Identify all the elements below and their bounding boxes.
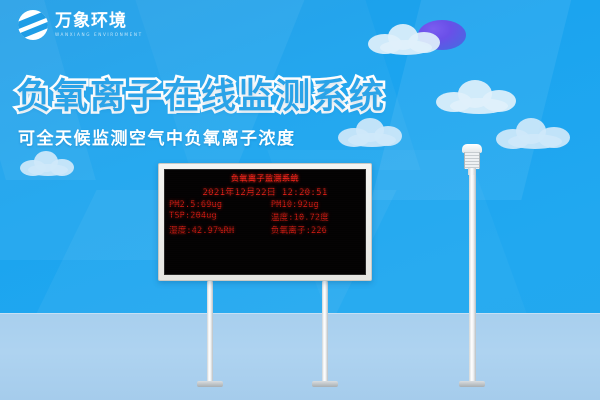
led-reading-pm10: PM10:92ug	[271, 200, 365, 210]
pole-base-left	[197, 381, 223, 387]
brand-logo: 万象环境 WANXIANG ENVIRONMENT	[18, 10, 143, 40]
led-screen-title: 负氧离子监测系统	[165, 173, 365, 184]
page-subtitle: 可全天候监测空气中负氧离子浓度	[18, 124, 296, 149]
led-reading-temp: 温度:10.72度	[271, 211, 365, 223]
globe-swoosh-icon	[18, 10, 48, 40]
led-reading-humidity: 湿度:42.97%RH	[169, 224, 271, 236]
brand-name-en: WANXIANG ENVIRONMENT	[55, 33, 143, 37]
sensor-mast	[469, 170, 476, 386]
radiation-shield-sensor-icon	[461, 144, 483, 174]
led-reading-tsp: TSP:204ug	[169, 211, 271, 223]
led-screen: 负氧离子监测系统 2021年12月22日 12:20:51 PM2.5:69ug…	[164, 169, 366, 275]
pole-base-right	[312, 381, 338, 387]
brand-logo-text: 万象环境 WANXIANG ENVIRONMENT	[55, 13, 143, 37]
ground-plane	[0, 313, 600, 400]
page-title: 负氧离子在线监测系统	[16, 68, 386, 119]
led-reading-pm25: PM2.5:69ug	[169, 200, 271, 210]
sensor-mast-base	[459, 381, 485, 387]
sensor-louver-body	[464, 152, 480, 169]
billboard-pole-right	[322, 281, 328, 386]
brand-name-cn: 万象环境	[55, 13, 143, 30]
billboard-pole-left	[207, 281, 213, 386]
led-reading-anion: 负氧离子:226	[271, 224, 365, 236]
gradient-orb-decoration	[418, 20, 466, 50]
led-datetime: 2021年12月22日 12:20:51	[165, 185, 365, 198]
promo-banner: 万象环境 WANXIANG ENVIRONMENT 负氧离子在线监测系统 可全天…	[0, 0, 600, 400]
led-display-board: 负氧离子监测系统 2021年12月22日 12:20:51 PM2.5:69ug…	[158, 163, 372, 281]
led-readings-grid: PM2.5:69ug PM10:92ug TSP:204ug 温度:10.72度…	[165, 200, 365, 236]
sensor-neck	[468, 168, 476, 175]
